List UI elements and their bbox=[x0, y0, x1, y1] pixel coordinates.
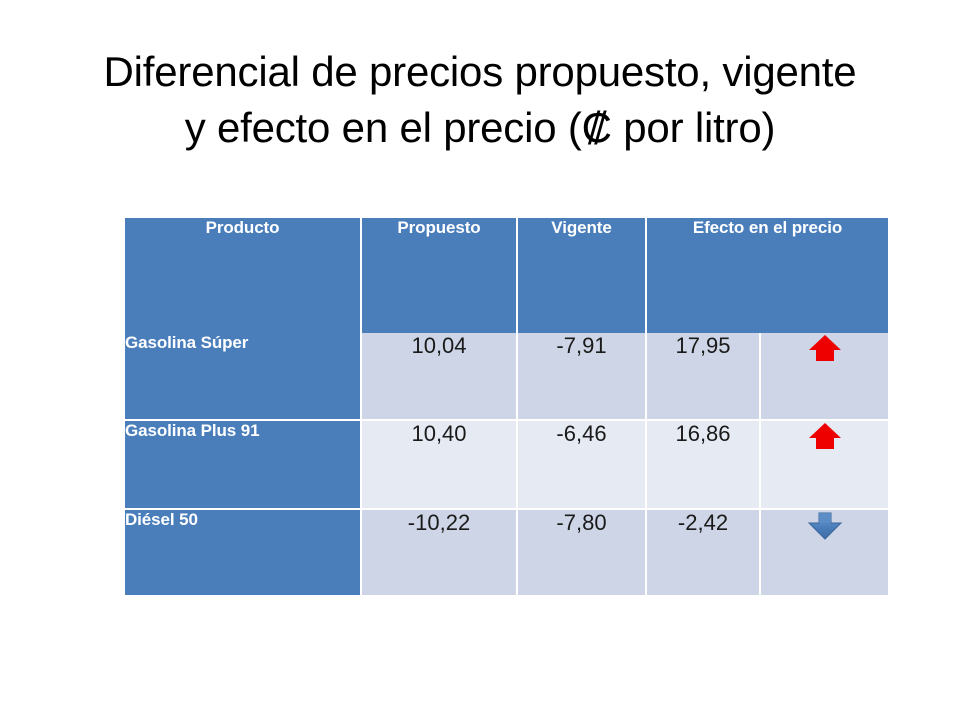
cell-indicator bbox=[761, 510, 888, 595]
cell-vigente: -6,46 bbox=[518, 421, 647, 510]
cell-producto: Diésel 50 bbox=[125, 510, 362, 595]
table-header-row: Producto Propuesto Vigente Efecto en el … bbox=[125, 218, 888, 333]
table-header: Producto Propuesto Vigente Efecto en el … bbox=[125, 218, 888, 333]
table-body: Gasolina Súper 10,04 -7,91 17,95 Gasolin… bbox=[125, 333, 888, 595]
table-row: Gasolina Súper 10,04 -7,91 17,95 bbox=[125, 333, 888, 421]
cell-propuesto: -10,22 bbox=[362, 510, 518, 595]
cell-indicator bbox=[761, 421, 888, 510]
arrow-up-icon bbox=[807, 421, 843, 455]
page-title: Diferencial de precios propuesto, vigent… bbox=[50, 44, 910, 156]
column-header-propuesto: Propuesto bbox=[362, 218, 518, 333]
price-differential-table: Producto Propuesto Vigente Efecto en el … bbox=[125, 218, 888, 595]
page-title-line-1: Diferencial de precios propuesto, vigent… bbox=[50, 44, 910, 100]
page-title-line-2: y efecto en el precio (₡ por litro) bbox=[50, 100, 910, 156]
cell-efecto: 17,95 bbox=[647, 333, 761, 421]
arrow-up-icon bbox=[807, 333, 843, 367]
cell-propuesto: 10,40 bbox=[362, 421, 518, 510]
cell-efecto: 16,86 bbox=[647, 421, 761, 510]
cell-vigente: -7,91 bbox=[518, 333, 647, 421]
cell-propuesto: 10,04 bbox=[362, 333, 518, 421]
cell-efecto: -2,42 bbox=[647, 510, 761, 595]
table-row: Diésel 50 -10,22 -7,80 -2,42 bbox=[125, 510, 888, 595]
cell-vigente: -7,80 bbox=[518, 510, 647, 595]
column-header-efecto-en-el-precio: Efecto en el precio bbox=[647, 218, 888, 333]
cell-producto: Gasolina Plus 91 bbox=[125, 421, 362, 510]
arrow-down-icon bbox=[803, 510, 847, 542]
cell-producto: Gasolina Súper bbox=[125, 333, 362, 421]
column-header-vigente: Vigente bbox=[518, 218, 647, 333]
slide-canvas: Diferencial de precios propuesto, vigent… bbox=[0, 0, 960, 720]
cell-indicator bbox=[761, 333, 888, 421]
table-row: Gasolina Plus 91 10,40 -6,46 16,86 bbox=[125, 421, 888, 510]
column-header-producto: Producto bbox=[125, 218, 362, 333]
